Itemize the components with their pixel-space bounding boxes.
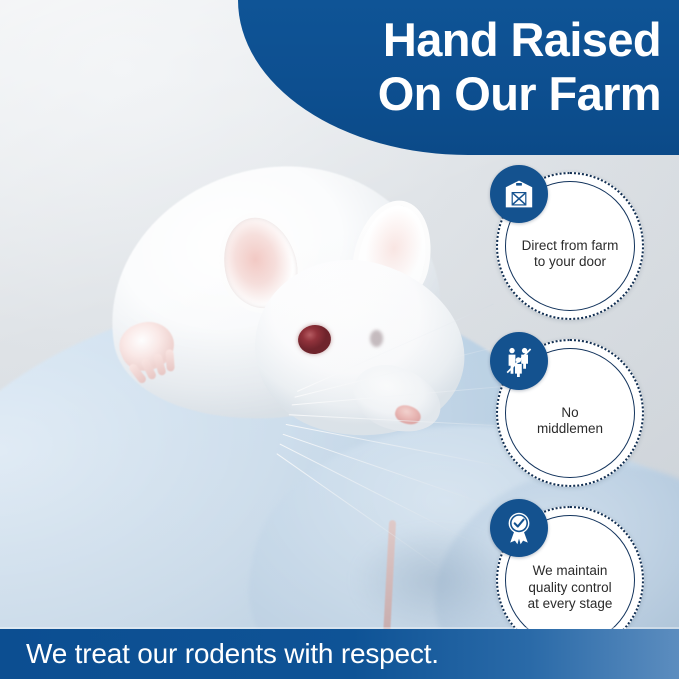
award-ribbon-icon	[490, 499, 548, 557]
footer-tagline: We treat our rodents with respect.	[0, 638, 439, 670]
badge-direct-from-farm[interactable]: Direct from farm to your door	[496, 172, 644, 320]
product-infographic: Hand Raised On Our Farm Direct from farm…	[0, 0, 679, 679]
badge-no-middlemen[interactable]: No middlemen	[496, 339, 644, 487]
footer-divider	[0, 627, 679, 629]
no-middlemen-icon	[490, 332, 548, 390]
page-title: Hand Raised On Our Farm	[238, 13, 661, 120]
footer-banner: We treat our rodents with respect.	[0, 629, 679, 679]
barn-icon	[490, 165, 548, 223]
